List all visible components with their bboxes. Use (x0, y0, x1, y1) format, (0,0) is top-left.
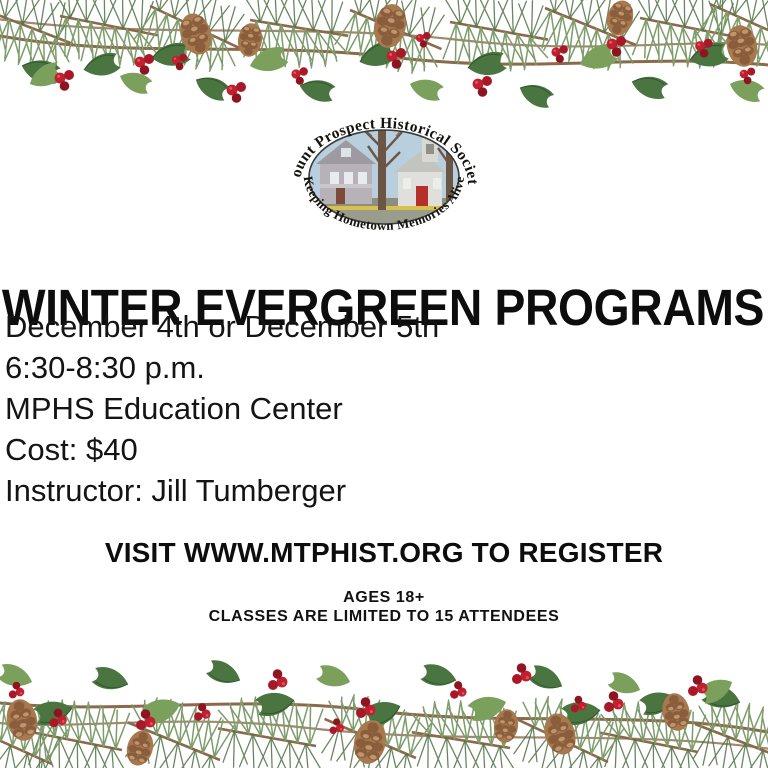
detail-line-location: MPHS Education Center (5, 388, 745, 429)
top-garland-border (0, 0, 768, 132)
detail-line-cost: Cost: $40 (5, 429, 745, 470)
fineprint-block: AGES 18+ CLASSES ARE LIMITED TO 15 ATTEN… (0, 588, 768, 626)
detail-line-time: 6:30-8:30 p.m. (5, 347, 745, 388)
fineprint-age: AGES 18+ (0, 588, 768, 607)
evergreen-garland-icon (0, 0, 768, 132)
poster-canvas: Mount Prospect Historical Society Keepin… (0, 0, 768, 768)
register-callout[interactable]: VISIT WWW.MTPHIST.ORG TO REGISTER (0, 536, 768, 570)
detail-line-instructor: Instructor: Jill Tumberger (5, 470, 745, 511)
event-details: December 4th or December 5th 6:30-8:30 p… (5, 306, 745, 511)
historical-society-seal-icon: Mount Prospect Historical Society Keepin… (286, 114, 482, 240)
detail-line-date: December 4th or December 5th (5, 306, 745, 347)
organization-logo: Mount Prospect Historical Society Keepin… (286, 114, 482, 240)
evergreen-garland-icon (0, 628, 768, 768)
bottom-garland-border (0, 628, 768, 768)
fineprint-capacity: CLASSES ARE LIMITED TO 15 ATTENDEES (0, 607, 768, 626)
